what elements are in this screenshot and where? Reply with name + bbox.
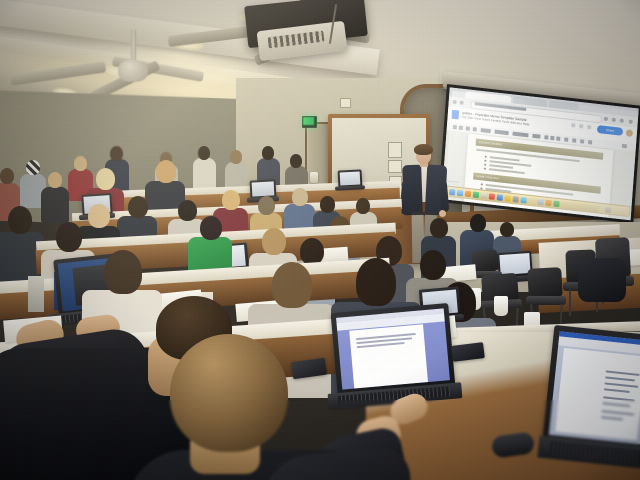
bold-icon[interactable]: [544, 135, 548, 139]
google-docs-icon: [452, 109, 460, 119]
backpack: [578, 258, 626, 302]
document-page[interactable]: [555, 348, 640, 440]
app-icon[interactable]: [473, 191, 479, 198]
app-icon[interactable]: [465, 190, 471, 197]
projection-screen-assembly: golden - Important Memo Template Sample …: [438, 84, 640, 228]
instructor-hand: [439, 210, 446, 217]
redo-icon[interactable]: [459, 126, 463, 130]
app-icon[interactable]: [513, 195, 519, 202]
launchpad-icon[interactable]: [457, 189, 463, 196]
align-icon[interactable]: [580, 139, 584, 143]
undo-icon[interactable]: [453, 125, 457, 129]
instructor-blazer-left: [402, 165, 423, 216]
link-icon[interactable]: [572, 138, 576, 142]
app-icon[interactable]: [497, 194, 503, 201]
fan-motor: [118, 60, 148, 82]
student-foreground-center: [142, 334, 372, 480]
edit-mode-icon[interactable]: [622, 144, 627, 148]
wall-sign: [340, 98, 351, 108]
app-icon[interactable]: [521, 196, 527, 203]
projection-screen: golden - Important Memo Template Sample …: [442, 87, 639, 220]
underline-icon[interactable]: [556, 136, 560, 140]
app-icon[interactable]: [545, 199, 551, 206]
exit-sign-glow: [303, 117, 314, 125]
instructor-hair: [414, 144, 433, 155]
water-bottle: [28, 276, 44, 312]
ceiling-fan-left: [58, 26, 208, 98]
trash-icon[interactable]: [605, 206, 611, 213]
app-icon[interactable]: [505, 195, 511, 202]
star-icon[interactable]: [571, 123, 575, 127]
text-color-icon[interactable]: [564, 137, 568, 141]
section-heading-label: Current Condition: [479, 139, 503, 149]
app-icon[interactable]: [553, 200, 559, 207]
app-icon[interactable]: [481, 192, 487, 199]
list-icon[interactable]: [588, 140, 592, 144]
section-heading-label: Goals / Outcome: [476, 173, 499, 182]
instructor-arm-right: [439, 180, 450, 213]
head-back: [170, 334, 288, 452]
history-icon[interactable]: [579, 124, 583, 128]
lecture-hall-photo: golden - Important Memo Template Sample …: [0, 0, 640, 480]
coffee-cup: [494, 296, 508, 316]
italic-icon[interactable]: [550, 136, 554, 140]
app-icon[interactable]: [537, 198, 543, 205]
paint-format-icon[interactable]: [473, 127, 477, 131]
wall-phone-icon[interactable]: [310, 172, 318, 183]
font-size-select[interactable]: [532, 134, 540, 138]
app-icon[interactable]: [489, 193, 495, 200]
laptop-screen[interactable]: [549, 331, 640, 444]
print-icon[interactable]: [466, 126, 470, 130]
comment-icon[interactable]: [587, 125, 591, 129]
